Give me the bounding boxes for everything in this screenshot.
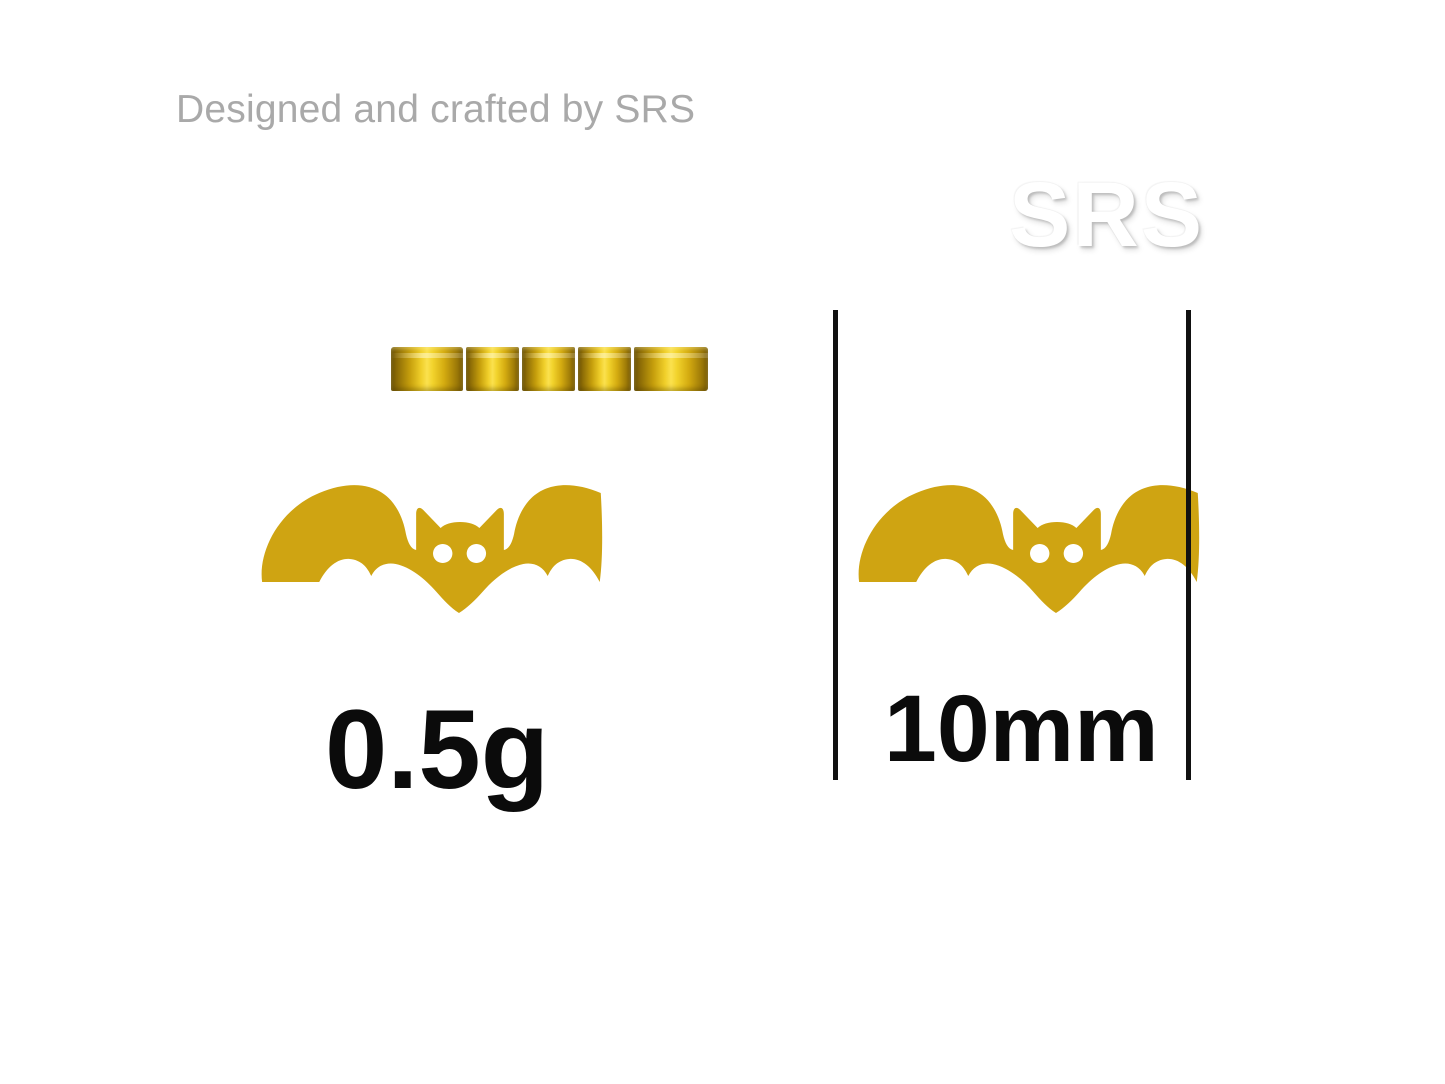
bat-silhouette-icon — [260, 470, 605, 615]
product-spec-image: Designed and crafted by SRS SRS 0.5g 10m… — [0, 0, 1445, 1084]
caliper-line-right — [1186, 310, 1191, 780]
gold-bar-edge-view — [391, 347, 708, 391]
gold-bar-segment — [391, 347, 463, 391]
caliper-line-left — [833, 310, 838, 780]
size-label: 10mm — [884, 682, 1159, 777]
gold-bar-segment — [578, 347, 631, 391]
bat-silhouette-icon — [857, 470, 1202, 615]
srs-watermark: SRS — [1009, 163, 1204, 268]
gold-bar-segment — [466, 347, 519, 391]
bat-charm-weight-sample — [260, 470, 605, 615]
gold-bar-segment — [634, 347, 708, 391]
gold-bar-segment — [522, 347, 575, 391]
bat-charm-size-sample — [857, 470, 1202, 615]
weight-label: 0.5g — [325, 694, 549, 806]
credit-line: Designed and crafted by SRS — [176, 88, 695, 132]
